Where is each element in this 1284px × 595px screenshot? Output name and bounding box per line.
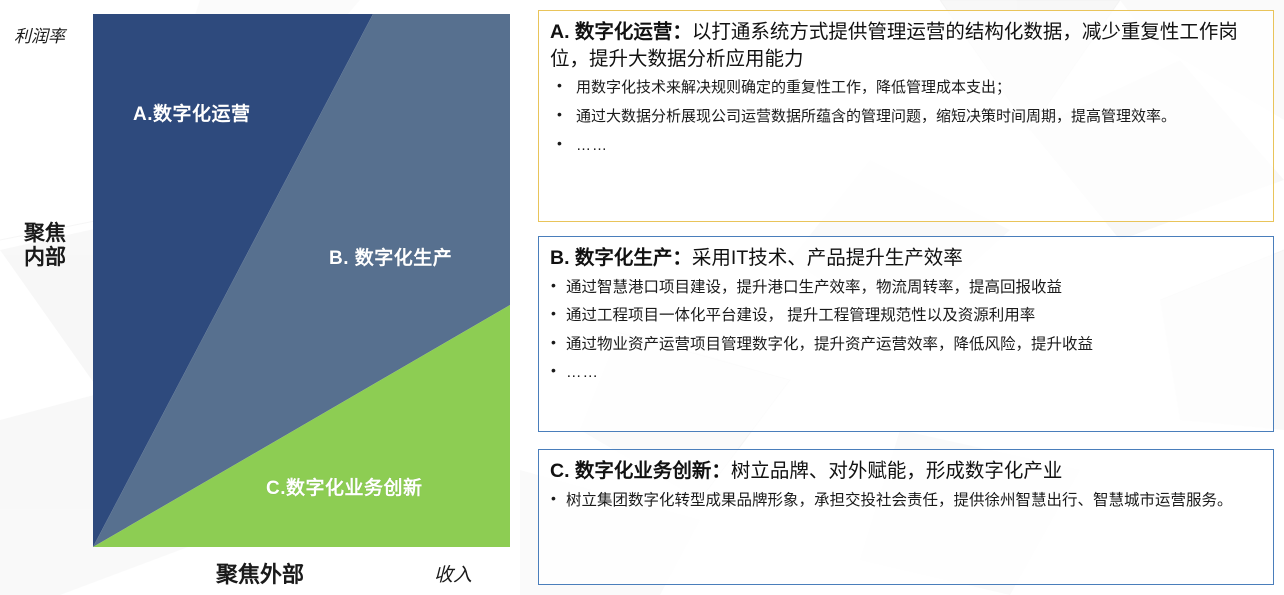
card-c-heading: C. 数字化业务创新：树立品牌、对外赋能，形成数字化产业 bbox=[550, 458, 1262, 485]
card-b-bullet-4: …… bbox=[550, 359, 1262, 387]
card-a-bullet-1: 用数字化技术来解决规则确定的重复性工作，降低管理成本支出； bbox=[550, 74, 1262, 102]
card-digital-production[interactable]: B. 数字化生产：采用IT技术、产品提升生产效率 通过智慧港口项目建设，提升港口… bbox=[538, 236, 1274, 432]
card-b-bullet-3: 通过物业资产运营项目管理数字化，提升资产运营效率，降低风险，提升收益 bbox=[550, 331, 1262, 359]
card-a-heading-lead: A. 数字化运营： bbox=[550, 21, 692, 43]
card-b-bullet-2: 通过工程项目一体化平台建设， 提升工程管理规范性以及资源利用率 bbox=[550, 302, 1262, 330]
card-b-bullet-1: 通过智慧港口项目建设，提升港口生产效率，物流周转率，提高回报收益 bbox=[550, 274, 1262, 302]
segment-b-label: B. 数字化生产 bbox=[329, 243, 452, 270]
card-a-bullet-list: 用数字化技术来解决规则确定的重复性工作，降低管理成本支出； 通过大数据分析展现公… bbox=[550, 74, 1262, 159]
card-c-bullet-list: 树立集团数字化转型成果品牌形象，承担交投社会责任，提供徐州智慧出行、智慧城市运营… bbox=[550, 487, 1262, 516]
card-b-heading-lead: B. 数字化生产： bbox=[550, 247, 692, 269]
detail-cards-panel: A. 数字化运营：以打通系统方式提供管理运营的结构化数据，减少重复性工作岗位，提… bbox=[538, 0, 1284, 595]
y-axis-label-line2: 内部 bbox=[24, 246, 66, 270]
x-axis-label-external-focus: 聚焦外部 bbox=[216, 557, 304, 589]
card-c-heading-rest: 树立品牌、对外赋能，形成数字化产业 bbox=[731, 460, 1063, 482]
card-c-bullet-1: 树立集团数字化转型成果品牌形象，承担交投社会责任，提供徐州智慧出行、智慧城市运营… bbox=[550, 487, 1262, 516]
card-b-bullet-list: 通过智慧港口项目建设，提升港口生产效率，物流周转率，提高回报收益 通过工程项目一… bbox=[550, 274, 1262, 387]
card-digital-operations[interactable]: A. 数字化运营：以打通系统方式提供管理运营的结构化数据，减少重复性工作岗位，提… bbox=[538, 10, 1274, 222]
card-b-heading: B. 数字化生产：采用IT技术、产品提升生产效率 bbox=[550, 245, 1262, 272]
card-c-heading-lead: C. 数字化业务创新： bbox=[550, 460, 731, 482]
segment-a-label: A.数字化运营 bbox=[133, 99, 251, 126]
segment-c-label: C.数字化业务创新 bbox=[266, 473, 423, 500]
card-a-bullet-3: …… bbox=[550, 132, 1262, 160]
matrix-diagram-panel: 利润率 聚焦 内部 聚焦外部 收入 A.数字化运营 B. 数字化生产 C.数字化… bbox=[0, 0, 520, 595]
card-a-bullet-2: 通过大数据分析展现公司运营数据所蕴含的管理问题，缩短决策时间周期，提高管理效率。 bbox=[550, 103, 1262, 131]
card-digital-business-innovation[interactable]: C. 数字化业务创新：树立品牌、对外赋能，形成数字化产业 树立集团数字化转型成果… bbox=[538, 449, 1274, 585]
y-axis-label-profit: 利润率 bbox=[14, 22, 65, 47]
x-axis-label-revenue: 收入 bbox=[434, 560, 472, 587]
triangle-segments-chart bbox=[93, 14, 510, 547]
card-b-heading-rest: 采用IT技术、产品提升生产效率 bbox=[692, 247, 963, 269]
y-axis-label-internal-focus: 聚焦 内部 bbox=[24, 222, 66, 269]
card-a-heading: A. 数字化运营：以打通系统方式提供管理运营的结构化数据，减少重复性工作岗位，提… bbox=[550, 19, 1262, 72]
y-axis-label-line1: 聚焦 bbox=[24, 222, 66, 246]
